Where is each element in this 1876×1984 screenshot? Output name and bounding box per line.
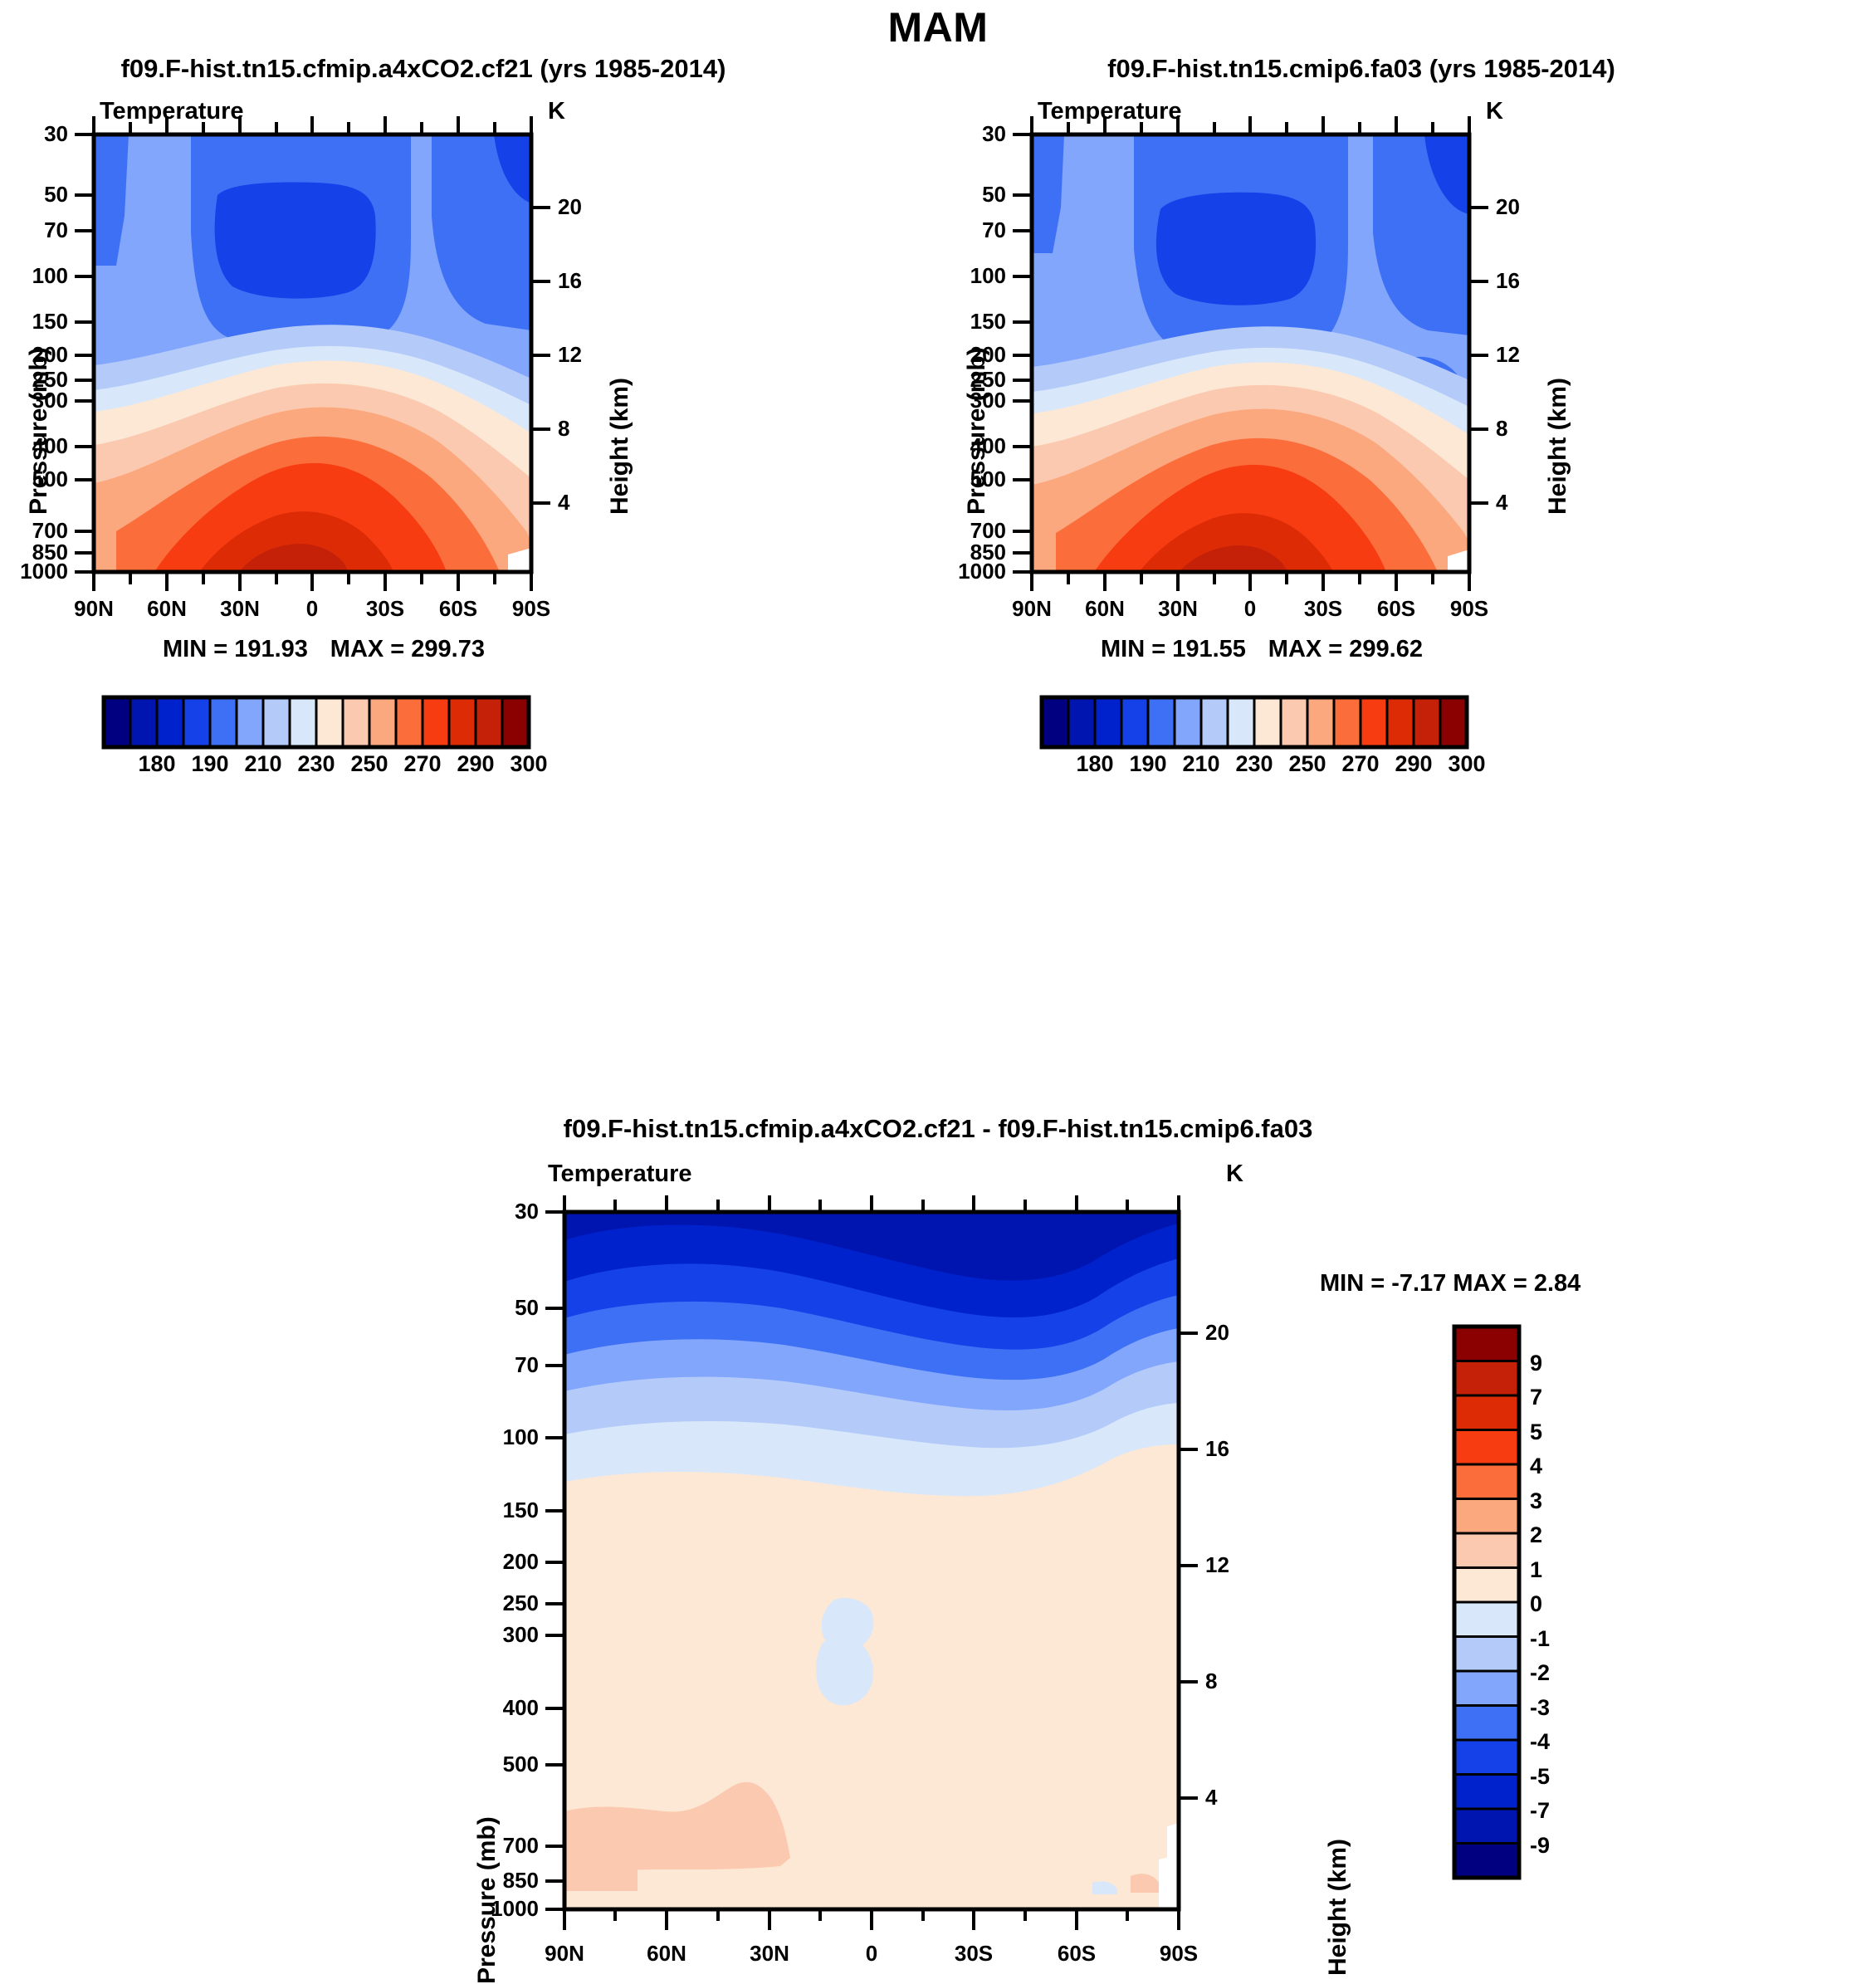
colorbar-swatch <box>1042 697 1068 747</box>
lat-tick: 90N <box>1012 596 1052 622</box>
cb-tick: -4 <box>1530 1729 1550 1755</box>
lat-tick: 60N <box>647 1941 686 1967</box>
lat-tick: 30S <box>1304 596 1342 622</box>
colorbar-swatch <box>1454 1602 1519 1637</box>
colorbar-swatch <box>502 697 529 747</box>
lat-tick: 60S <box>1058 1941 1096 1967</box>
lat-tick: 30N <box>220 596 260 622</box>
ptick: 100 <box>970 263 1006 289</box>
figure-title: MAM <box>0 3 1876 51</box>
lat-tick: 90S <box>512 596 550 622</box>
ptick: 850 <box>503 1868 539 1894</box>
cb-tick: 250 <box>350 751 388 777</box>
cb-tick: 2 <box>1530 1522 1542 1548</box>
ptick: 400 <box>503 1695 539 1721</box>
colorbar-swatch <box>316 697 343 747</box>
panel-diff-height-axis-label: Height (km) <box>1324 1839 1352 1976</box>
colorbar-swatch <box>1454 1361 1519 1396</box>
htick: 16 <box>558 268 582 294</box>
colorbar-swatch <box>1440 697 1467 747</box>
cb-tick: 190 <box>191 751 228 777</box>
htick: 4 <box>1496 490 1507 516</box>
ptick: 70 <box>44 217 68 243</box>
lat-tick: 60N <box>147 596 187 622</box>
ptick: 500 <box>970 467 1006 492</box>
lat-tick: 90N <box>545 1941 584 1967</box>
cb-tick: 1 <box>1530 1557 1542 1583</box>
panel-diff-plot <box>498 1195 1312 1942</box>
colorbar-swatch <box>1454 1533 1519 1568</box>
panel-a-min: MIN = 191.93 <box>163 636 308 662</box>
colorbar-swatch <box>1454 1809 1519 1844</box>
colorbar-swatch <box>1387 697 1414 747</box>
colorbar-swatch <box>130 697 157 747</box>
ptick: 300 <box>32 388 68 413</box>
colorbar-swatch <box>1454 1568 1519 1603</box>
colorbar-swatch <box>1121 697 1148 747</box>
panel-a-plot <box>0 116 647 598</box>
colorbar-swatch <box>104 697 130 747</box>
cb-tick: 250 <box>1288 751 1326 777</box>
ptick: 200 <box>32 342 68 368</box>
cb-tick: 210 <box>244 751 281 777</box>
lat-tick: 90S <box>1450 596 1488 622</box>
cb-tick: 210 <box>1182 751 1219 777</box>
ptick: 70 <box>982 217 1006 243</box>
colorbar-swatch <box>1454 1327 1519 1361</box>
panel-a-title: f09.F-hist.tn15.cfmip.a4xCO2.cf21 (yrs 1… <box>0 54 847 84</box>
colorbar-swatch <box>1454 1637 1519 1672</box>
colorbar-swatch <box>1228 697 1254 747</box>
ptick: 400 <box>32 433 68 459</box>
colorbar-swatch <box>1334 697 1361 747</box>
ptick: 30 <box>982 121 1006 147</box>
panel-b-minmax: MIN = 191.55 MAX = 299.62 <box>938 636 1585 663</box>
htick: 4 <box>1205 1785 1217 1811</box>
panel-a: f09.F-hist.tn15.cfmip.a4xCO2.cf21 (yrs 1… <box>0 50 938 1129</box>
colorbar-swatch <box>290 697 316 747</box>
ptick: 300 <box>503 1622 539 1648</box>
colorbar-swatch <box>237 697 263 747</box>
ptick: 70 <box>515 1352 539 1378</box>
htick: 4 <box>558 490 569 516</box>
panel-diff-title: f09.F-hist.tn15.cfmip.a4xCO2.cf21 - f09.… <box>0 1114 1876 1144</box>
lat-tick: 0 <box>1244 596 1256 622</box>
htick: 8 <box>558 416 569 442</box>
colorbar-swatch <box>263 697 290 747</box>
ptick: 50 <box>44 182 68 208</box>
colorbar-swatch <box>1201 697 1228 747</box>
ptick: 30 <box>515 1199 539 1224</box>
htick: 12 <box>558 342 582 368</box>
ptick: 200 <box>503 1549 539 1575</box>
panel-b-plot <box>938 116 1585 598</box>
colorbar-swatch <box>1454 1706 1519 1741</box>
cb-tick: 7 <box>1530 1385 1542 1410</box>
lat-tick: 0 <box>306 596 318 622</box>
ptick: 700 <box>503 1833 539 1859</box>
panel-a-minmax: MIN = 191.93 MAX = 299.73 <box>0 636 647 663</box>
panel-a-max: MAX = 299.73 <box>330 636 485 662</box>
colorbar-swatch <box>1068 697 1095 747</box>
colorbar-swatch <box>1454 1464 1519 1499</box>
colorbar-swatch <box>449 697 476 747</box>
cb-tick: 3 <box>1530 1488 1542 1514</box>
htick: 12 <box>1496 342 1520 368</box>
colorbar-swatch <box>1454 1395 1519 1430</box>
cb-tick: 190 <box>1129 751 1166 777</box>
colorbar-swatch <box>1175 697 1201 747</box>
colorbar-swatch <box>1361 697 1387 747</box>
colorbar-swatch <box>396 697 423 747</box>
colorbar-swatch <box>1454 1740 1519 1775</box>
colorbar-swatch <box>423 697 449 747</box>
htick: 8 <box>1205 1669 1217 1694</box>
ptick: 30 <box>44 121 68 147</box>
panel-diff-units-label: K <box>1226 1161 1243 1188</box>
colorbar-swatch <box>476 697 502 747</box>
lat-tick: 30S <box>955 1941 993 1967</box>
htick: 20 <box>1205 1320 1229 1346</box>
lat-tick: 30S <box>366 596 404 622</box>
panel-a-colorbar[interactable] <box>0 685 647 751</box>
ptick: 300 <box>970 388 1006 413</box>
cb-tick: 5 <box>1530 1420 1542 1445</box>
ptick: 1000 <box>958 559 1006 584</box>
cb-tick: -2 <box>1530 1660 1550 1686</box>
colorbar-swatch <box>1281 697 1307 747</box>
cb-tick: 270 <box>403 751 441 777</box>
ptick: 400 <box>970 433 1006 459</box>
ptick: 50 <box>515 1295 539 1321</box>
ptick: 1000 <box>20 559 68 584</box>
colorbar-swatch <box>1454 1430 1519 1465</box>
cb-tick: -9 <box>1530 1833 1550 1859</box>
ptick: 250 <box>503 1591 539 1616</box>
colorbar-swatch <box>343 697 369 747</box>
cb-tick: 180 <box>1076 751 1113 777</box>
panel-b-max: MAX = 299.62 <box>1268 636 1423 662</box>
colorbar-swatch <box>157 697 183 747</box>
panel-b-colorbar[interactable] <box>938 685 1585 751</box>
lat-tick: 30N <box>750 1941 789 1967</box>
htick: 20 <box>1496 194 1520 220</box>
lat-tick: 30N <box>1158 596 1198 622</box>
cb-tick: 300 <box>510 751 547 777</box>
colorbar-swatch <box>1454 1499 1519 1534</box>
htick: 12 <box>1205 1552 1229 1578</box>
ptick: 100 <box>32 263 68 289</box>
cb-tick: 0 <box>1530 1591 1542 1617</box>
lat-tick: 60S <box>1377 596 1415 622</box>
cb-tick: 290 <box>1395 751 1432 777</box>
cb-tick: 270 <box>1341 751 1379 777</box>
cb-tick: -3 <box>1530 1695 1550 1721</box>
lat-tick: 60N <box>1085 596 1125 622</box>
panel-b-title: f09.F-hist.tn15.cmip6.fa03 (yrs 1985-201… <box>938 54 1785 84</box>
htick: 20 <box>558 194 582 220</box>
cb-tick: -5 <box>1530 1764 1550 1790</box>
colorbar-swatch <box>1454 1671 1519 1706</box>
panel-diff-minmax: MIN = -7.17 MAX = 2.84 <box>1320 1270 1580 1297</box>
ptick: 100 <box>503 1424 539 1450</box>
htick: 16 <box>1496 268 1520 294</box>
lat-tick: 90S <box>1160 1941 1198 1967</box>
colorbar-swatch <box>1414 697 1440 747</box>
htick: 16 <box>1205 1436 1229 1462</box>
cb-tick: 230 <box>297 751 335 777</box>
ptick: 500 <box>32 467 68 492</box>
colorbar-swatch <box>183 697 210 747</box>
lat-tick: 60S <box>439 596 477 622</box>
ptick: 50 <box>982 182 1006 208</box>
ptick: 500 <box>503 1752 539 1777</box>
ptick: 150 <box>32 309 68 335</box>
lat-tick: 0 <box>866 1941 877 1967</box>
cb-tick: 4 <box>1530 1454 1542 1479</box>
ptick: 150 <box>970 309 1006 335</box>
colorbar-swatch <box>1148 697 1175 747</box>
panel-diff-variable-label: Temperature <box>548 1161 692 1188</box>
cb-tick: -7 <box>1530 1798 1550 1824</box>
colorbar-swatch <box>1095 697 1121 747</box>
cb-tick: 300 <box>1448 751 1485 777</box>
cb-tick: -1 <box>1530 1626 1550 1652</box>
colorbar-swatch <box>1454 1775 1519 1810</box>
colorbar-swatch <box>1307 697 1334 747</box>
colorbar-swatch <box>369 697 396 747</box>
htick: 8 <box>1496 416 1507 442</box>
ptick: 1000 <box>491 1896 539 1922</box>
panel-b-min: MIN = 191.55 <box>1101 636 1246 662</box>
colorbar-swatch <box>1454 1844 1519 1879</box>
cb-tick: 9 <box>1530 1351 1542 1376</box>
cb-tick: 230 <box>1235 751 1273 777</box>
lat-tick: 90N <box>74 596 114 622</box>
cb-tick: 180 <box>138 751 175 777</box>
panel-b: f09.F-hist.tn15.cmip6.fa03 (yrs 1985-201… <box>938 50 1876 1129</box>
panel-diff: f09.F-hist.tn15.cfmip.a4xCO2.cf21 - f09.… <box>0 1104 1876 1978</box>
ptick: 200 <box>970 342 1006 368</box>
ptick: 150 <box>503 1498 539 1523</box>
colorbar-swatch <box>210 697 237 747</box>
colorbar-swatch <box>1254 697 1281 747</box>
cb-tick: 290 <box>457 751 494 777</box>
